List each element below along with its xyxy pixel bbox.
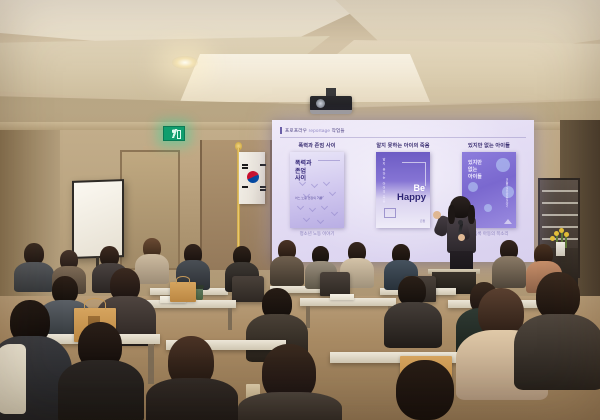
ceiling-recess [180,54,430,102]
column-title: 알지 못하는 아이의 죽음 [376,142,429,149]
column-caption: 청소년 노동 이야기 [300,231,335,237]
cover-title: 있지만없는아이들 [468,160,482,180]
attendee-body [492,256,526,288]
attendee-head [536,272,580,320]
book-cover-1: 폭력과존엄사이 어느 노동 현장의 기록 [290,152,344,228]
shoulder-bag [0,344,26,414]
cover-title-happy: Happy [397,193,426,203]
slide-brand-bar: 프로프라우 reportage 작업들 [280,127,345,134]
column-title: 폭력과 존엄 사이 [298,142,335,149]
book-cover-2: 알지 못하는 아이의 죽음 Be Happy 은유 [376,152,430,228]
projection-screen: 프로프라우 reportage 작업들 폭력과 존엄 사이 폭력과존엄사이 어느… [272,120,534,262]
exit-door-glyph [177,130,181,139]
brand-bar-icon [280,127,282,134]
attendee-body [58,360,144,420]
trigram-icon [260,164,266,166]
handout [330,294,354,300]
presenter-raised-hand [433,211,441,219]
coffee-cup [196,288,203,300]
presenter-hair-right [468,205,475,224]
projector-base [310,110,352,114]
attendee-body [270,256,304,286]
cover-author: 은유 [420,219,425,223]
korean-flag [239,152,265,204]
flower-vase [556,242,565,256]
tote-bag [170,282,196,302]
microphone-head-icon [458,220,463,225]
ceiling-light-icon [172,56,198,69]
slide-columns: 폭력과 존엄 사이 폭력과존엄사이 어느 노동 현장의 기록 청소년 노동 이야… [278,142,528,254]
taeguk-icon [247,171,259,183]
presenter-hair-left [448,205,455,224]
cover-rule [318,160,340,161]
cover-vertical-text: 알지 못하는 아이의 죽음 [382,158,386,204]
slide-column-1: 폭력과 존엄 사이 폭력과존엄사이 어느 노동 현장의 기록 청소년 노동 이야… [278,142,356,254]
slide-brand-text: 프로프라우 reportage 작업들 [285,128,345,134]
attendee-body [146,378,238,420]
trigram-icon [242,164,248,166]
whiteboard[interactable] [72,179,124,259]
attendee-body [384,302,442,348]
column-title: 있지만 없는 아이들 [468,142,510,149]
cup-lid [195,285,204,289]
chair[interactable] [320,272,350,296]
attendee-body [135,254,169,284]
whiteboard-surface [74,181,122,257]
exit-sign-icon [163,126,185,141]
chair[interactable] [232,276,264,302]
trigram-icon [260,186,266,188]
lecture-hall-scene: 프로프라우 reportage 작업들 폭력과 존엄 사이 폭력과존엄사이 어느… [0,0,600,420]
attendee-body [514,314,600,390]
attendee-head [396,360,454,420]
attendee-body [14,262,54,292]
trigram-icon [260,189,266,191]
trigram-icon [242,167,248,169]
presenter-mic-hand [458,234,465,241]
cover-square [384,208,396,218]
slide-divider [280,137,526,138]
publisher-logo-icon [504,219,512,224]
tote-handle [176,276,190,284]
cover-vertical-text: 미등록 이주아동 이야기 [505,178,509,208]
slide-column-2: 알지 못하는 아이의 죽음 알지 못하는 아이의 죽음 Be Happy 은유 [364,142,442,254]
tote-handle [84,298,106,310]
projector-lens-icon [316,99,325,108]
attendee-body [238,392,342,420]
trigram-icon [242,186,248,188]
